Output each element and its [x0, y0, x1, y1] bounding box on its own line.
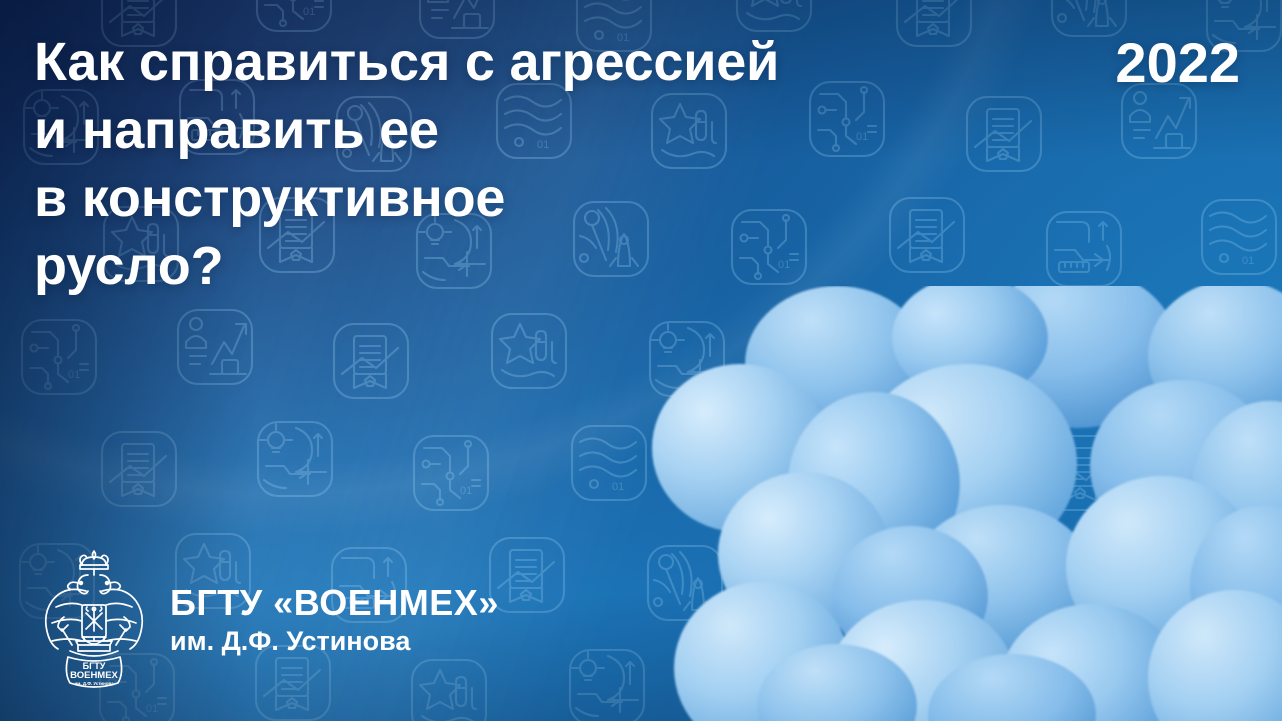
slide-title: Как справиться с агрессией и направить е…	[34, 28, 934, 300]
presentation-slide: 01	[0, 0, 1282, 721]
university-logo-block: БГТУ ВОЕНМЕХ им. Д.Ф. Устинова БГТУ «ВОЕ…	[40, 545, 499, 695]
year-label: 2022	[1115, 30, 1240, 95]
double-headed-eagle-emblem-icon: БГТУ ВОЕНМЕХ им. Д.Ф. Устинова	[40, 545, 148, 695]
university-name: БГТУ «ВОЕНМЕХ»	[170, 583, 499, 623]
university-subtitle: им. Д.Ф. Устинова	[170, 626, 499, 657]
university-logo-text: БГТУ «ВОЕНМЕХ» им. Д.Ф. Устинова	[170, 583, 499, 658]
bubble-cluster-decoration	[622, 286, 1282, 721]
emblem-banner-line3: им. Д.Ф. Устинова	[74, 681, 114, 686]
emblem-banner-line2: ВОЕНМЕХ	[70, 670, 118, 681]
